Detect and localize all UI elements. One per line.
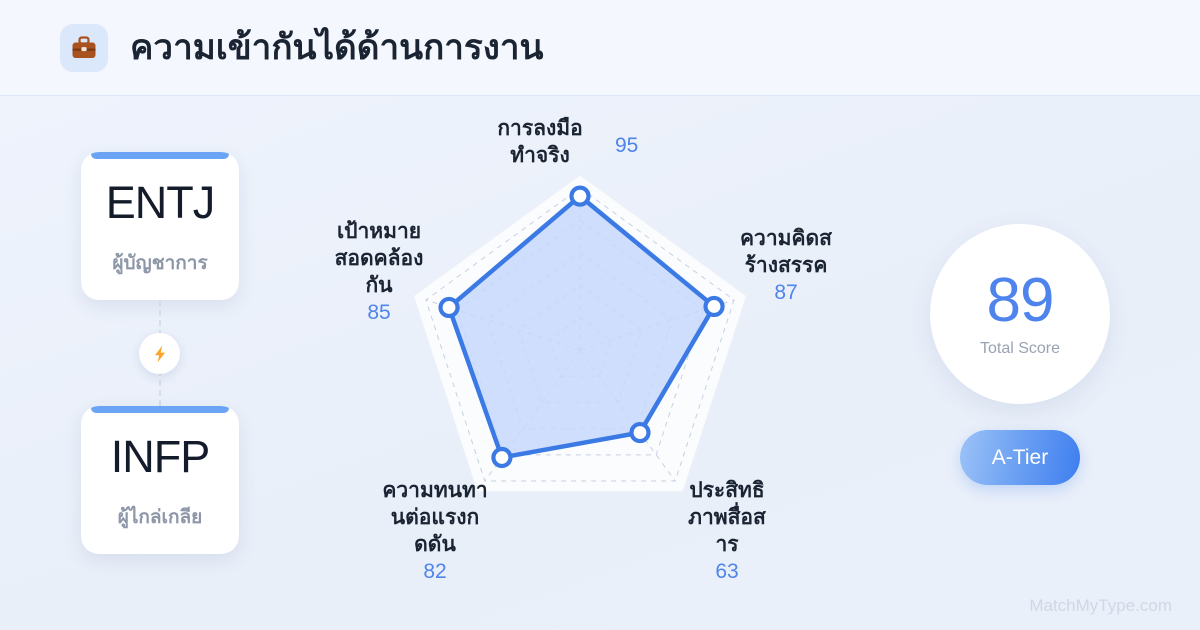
axis-value: 87: [722, 280, 850, 307]
page-title: ความเข้ากันได้ด้านการงาน: [130, 20, 543, 75]
axis-label-right: ความคิดสร้างสรรค87: [722, 226, 850, 307]
type-card-primary[interactable]: ENTJ ผู้บัญชาการ: [81, 152, 239, 300]
type-name: ผู้ไกล่เกลีย: [81, 502, 239, 532]
axis-label-bottom-left: ความทนทานต่อแรงกดดัน82: [365, 478, 505, 586]
axis-value: 63: [662, 559, 792, 586]
axis-value-top: 95: [615, 134, 638, 158]
type-card-secondary[interactable]: INFP ผู้ไกล่เกลีย: [81, 406, 239, 554]
watermark: MatchMyType.com: [1029, 596, 1172, 616]
type-code: INFP: [81, 431, 239, 483]
radar-data-point: [631, 424, 648, 441]
radar-chart: การลงมือทำจริง 95 ความคิดสร้างสรรค87 เป้…: [290, 96, 870, 630]
type-name: ผู้บัญชาการ: [81, 248, 239, 278]
tier-badge-label: A-Tier: [992, 446, 1048, 470]
axis-label-bottom-right: ประสิทธิภาพสื่อสาร63: [662, 478, 792, 586]
type-code: ENTJ: [81, 177, 239, 229]
axis-value: 85: [310, 300, 448, 327]
result-stage: ENTJ ผู้บัญชาการ INFP ผู้ไกล่เกลีย การลง…: [0, 96, 1200, 630]
axis-value: 82: [365, 559, 505, 586]
page-header: ความเข้ากันได้ด้านการงาน: [0, 0, 1200, 96]
card-accent-bar: [91, 406, 229, 413]
total-score-value: 89: [987, 270, 1054, 332]
briefcase-icon: [60, 24, 108, 72]
lightning-bolt-icon: [139, 333, 180, 374]
radar-data-point: [706, 298, 723, 315]
axis-label-top: การลงมือทำจริง: [465, 116, 615, 170]
radar-data-point: [493, 449, 510, 466]
card-accent-bar: [91, 152, 229, 159]
total-score-circle: 89 Total Score: [930, 224, 1110, 404]
total-score-caption: Total Score: [980, 340, 1060, 358]
tier-badge: A-Tier: [960, 430, 1080, 485]
axis-label-left: เป้าหมายสอดคล้องกัน85: [310, 219, 448, 327]
radar-data-point: [572, 188, 589, 205]
